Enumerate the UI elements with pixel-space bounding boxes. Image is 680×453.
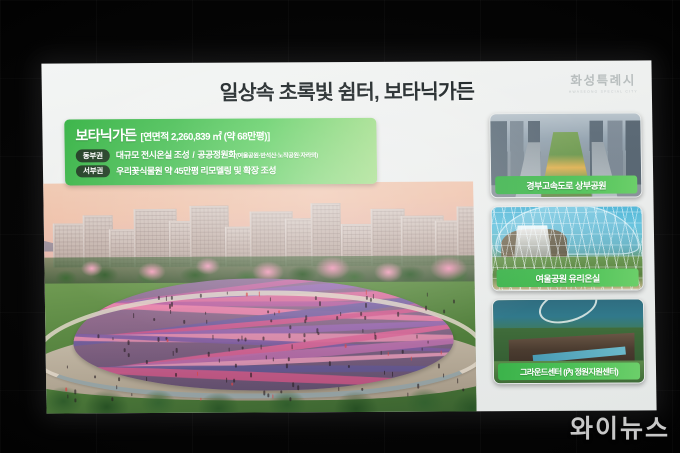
visitor-figure bbox=[348, 365, 350, 368]
visitor-figure bbox=[289, 334, 291, 339]
visitor-figure bbox=[397, 312, 399, 317]
city-logo: 화성특례시 HWASEONG SPECIAL CITY bbox=[568, 69, 637, 93]
visitor-figure bbox=[241, 336, 243, 341]
visitor-figure bbox=[212, 335, 214, 339]
east-separator: / bbox=[189, 150, 197, 160]
visitor-figure bbox=[171, 296, 173, 300]
visitor-figure bbox=[289, 397, 291, 401]
visitor-figure bbox=[297, 386, 299, 391]
visitor-figure bbox=[336, 316, 338, 321]
visitor-figure bbox=[387, 351, 389, 355]
visitor-figure bbox=[245, 337, 247, 341]
visitor-figure bbox=[74, 390, 76, 395]
visitor-figure bbox=[366, 290, 368, 294]
visitor-figure bbox=[228, 348, 230, 352]
info-panel-area: [연면적 2,260,839 ㎡ (약 68만평)] bbox=[140, 128, 270, 143]
visitor-figure bbox=[274, 313, 276, 316]
visitor-figure bbox=[271, 319, 273, 322]
visitor-figure bbox=[370, 298, 372, 302]
visitor-figure bbox=[304, 333, 306, 337]
visitor-figure bbox=[375, 334, 377, 339]
visitor-figure bbox=[384, 371, 386, 375]
visitor-figure bbox=[365, 316, 367, 321]
visitor-figure bbox=[407, 393, 409, 397]
visitor-figure bbox=[218, 359, 220, 363]
visitor-figure bbox=[124, 349, 126, 353]
visitor-figure bbox=[133, 313, 135, 318]
main-rendering-image bbox=[43, 181, 476, 413]
visitor-figure bbox=[417, 384, 419, 389]
page-title: 일상속 초록빛 쉼터, 보타닉가든 bbox=[42, 73, 652, 106]
visitor-figure bbox=[318, 332, 320, 335]
visitor-figure bbox=[175, 373, 177, 376]
visitor-figure bbox=[440, 351, 442, 355]
slide-header: 일상속 초록빛 쉼터, 보타닉가든 화성특례시 HWASEONG SPECIAL… bbox=[41, 60, 652, 117]
projection-room: 일상속 초록빛 쉼터, 보타닉가든 화성특례시 HWASEONG SPECIAL… bbox=[0, 0, 680, 453]
visitor-figure bbox=[66, 387, 68, 391]
visitor-figure bbox=[128, 353, 130, 357]
info-row-west: 서부권 우리꽃식물원 약 45만평 리모델링 및 확장 조성 bbox=[76, 164, 365, 178]
visitor-figure bbox=[427, 292, 429, 296]
region-chip-east: 동부권 bbox=[76, 149, 110, 162]
visitor-figure bbox=[128, 340, 130, 345]
east-text-detail: (여울공원·반석산·노작공원·자라뫼) bbox=[236, 152, 318, 159]
news-watermark: 와이뉴스 bbox=[570, 409, 670, 445]
info-panel-heading: 보타닉가든 [연면적 2,260,839 ㎡ (약 68만평)] bbox=[75, 124, 364, 146]
info-panel-title: 보타닉가든 bbox=[75, 125, 136, 145]
visitor-figure bbox=[272, 395, 274, 399]
visitor-figure bbox=[111, 397, 113, 401]
visitor-figure bbox=[366, 296, 368, 300]
visitor-figure bbox=[361, 388, 363, 391]
visitor-figure bbox=[116, 385, 118, 389]
visitor-figure bbox=[288, 357, 290, 361]
thumbnail-caption-ground-center: 그라운드센터 (內 정원지원센터) bbox=[498, 362, 640, 380]
visitor-figure bbox=[231, 383, 233, 386]
visitor-figure bbox=[421, 348, 423, 351]
visitor-figure bbox=[165, 296, 167, 301]
info-row-east-text: 대규모 전시온실 조성/공공정원화(여울공원·반석산·노작공원·자라뫼) bbox=[116, 149, 318, 160]
visitor-figure bbox=[438, 364, 440, 368]
visitor-figure bbox=[410, 356, 412, 360]
visitor-figure bbox=[365, 303, 367, 308]
visitor-figure bbox=[272, 357, 274, 361]
visitor-figure bbox=[158, 337, 160, 342]
visitor-figure bbox=[463, 388, 465, 391]
visitor-figure bbox=[176, 348, 178, 353]
thumbnail-glass-greenhouse: 여울공원 유리온실 bbox=[491, 205, 644, 291]
visitor-figure bbox=[286, 364, 288, 368]
visitor-figure bbox=[281, 390, 283, 394]
visitor-figure bbox=[226, 378, 228, 383]
visitor-figure bbox=[269, 297, 271, 301]
botanic-garden-info-panel: 보타닉가든 [연면적 2,260,839 ㎡ (약 68만평)] 동부권 대규모… bbox=[64, 118, 377, 186]
thumbnail-highway-deck-park: 경부고속도로 상부공원 bbox=[489, 112, 642, 198]
visitor-figure bbox=[250, 372, 252, 377]
visitor-figure bbox=[112, 337, 114, 341]
visitor-figure bbox=[329, 362, 331, 366]
visitor-figure bbox=[259, 292, 261, 297]
visitor-figure bbox=[373, 294, 375, 298]
visitor-figure bbox=[425, 305, 427, 310]
visitor-figure bbox=[290, 325, 292, 329]
visitor-figure bbox=[131, 393, 133, 396]
visitor-figure bbox=[197, 372, 199, 376]
east-text-main: 대규모 전시온실 조성 bbox=[116, 150, 190, 160]
visitor-figure bbox=[200, 294, 202, 298]
visitor-figure bbox=[226, 292, 228, 295]
visitor-figure bbox=[67, 365, 69, 368]
reference-thumbnail-rail: 경부고속도로 상부공원 여울공원 유리온실 bbox=[489, 112, 645, 384]
visitor-figure bbox=[208, 352, 210, 357]
visitor-figure bbox=[158, 296, 160, 300]
visitor-figure bbox=[67, 395, 69, 399]
visitor-figure bbox=[170, 310, 172, 314]
visitor-figure bbox=[205, 311, 207, 315]
visitor-figure bbox=[380, 351, 382, 355]
visitor-figure bbox=[172, 351, 174, 356]
visitor-figure bbox=[278, 310, 280, 313]
info-row-west-text: 우리꽃식물원 약 45만평 리모델링 및 확장 조성 bbox=[116, 165, 276, 176]
thumbnail-caption-greenhouse: 여울공원 유리온실 bbox=[496, 268, 638, 287]
visitor-figure bbox=[94, 375, 96, 379]
visitor-figure bbox=[361, 312, 363, 316]
visitor-figure bbox=[75, 398, 77, 403]
visitor-figure bbox=[146, 360, 148, 364]
visitor-figure bbox=[263, 337, 265, 341]
visitor-figure bbox=[234, 379, 236, 383]
visitor-figure bbox=[392, 372, 394, 377]
visitor-figure bbox=[268, 394, 270, 398]
visitor-figure bbox=[146, 377, 148, 381]
visitor-figure bbox=[183, 320, 185, 324]
visitor-figure bbox=[235, 364, 237, 368]
visitor-figure bbox=[345, 344, 347, 348]
visitor-figure bbox=[340, 312, 342, 317]
visitor-figure bbox=[118, 377, 120, 381]
visitor-figure bbox=[171, 302, 173, 307]
visitor-figure bbox=[166, 339, 168, 343]
visitor-figure bbox=[402, 350, 404, 354]
visitor-figure bbox=[266, 355, 268, 359]
visitor-figure bbox=[292, 383, 294, 388]
west-text-main: 우리꽃식물원 약 45만평 리모델링 및 확장 조성 bbox=[116, 165, 276, 176]
visitor-figure bbox=[153, 318, 155, 321]
thumbnail-ground-center: 그라운드센터 (內 정원지원센터) bbox=[492, 298, 645, 384]
visitor-figure bbox=[338, 387, 340, 391]
visitor-figure bbox=[457, 378, 459, 383]
visitor-figure bbox=[98, 334, 100, 338]
info-row-east: 동부권 대규모 전시온실 조성/공공정원화(여울공원·반석산·노작공원·자라뫼) bbox=[76, 148, 365, 162]
visitor-figure bbox=[267, 311, 269, 314]
visitor-figure bbox=[427, 340, 429, 344]
city-logo-korean: 화성특례시 bbox=[568, 69, 637, 88]
presentation-slide: 일상속 초록빛 쉼터, 보타닉가든 화성특례시 HWASEONG SPECIAL… bbox=[41, 60, 656, 413]
visitor-figure bbox=[260, 345, 262, 350]
visitor-figure bbox=[242, 346, 244, 349]
visitor-figure bbox=[315, 296, 317, 300]
visitor-figure bbox=[264, 391, 266, 396]
visitor-figures bbox=[43, 181, 476, 413]
visitor-figure bbox=[443, 374, 445, 378]
visitor-figure bbox=[453, 299, 455, 303]
visitor-figure bbox=[304, 339, 306, 342]
city-logo-english: HWASEONG SPECIAL CITY bbox=[569, 89, 638, 93]
visitor-figure bbox=[246, 293, 248, 297]
visitor-figure bbox=[200, 397, 202, 400]
visitor-figure bbox=[206, 320, 208, 324]
visitor-figure bbox=[444, 309, 446, 313]
visitor-figure bbox=[305, 320, 307, 324]
visitor-figure bbox=[319, 301, 321, 306]
region-chip-west: 서부권 bbox=[76, 165, 110, 178]
visitor-figure bbox=[238, 339, 240, 342]
east-text-second: 공공정원화 bbox=[197, 150, 236, 160]
visitor-figure bbox=[291, 344, 293, 349]
visitor-figure bbox=[362, 329, 364, 333]
thumbnail-caption-highway: 경부고속도로 상부공원 bbox=[495, 175, 637, 194]
visitor-figure bbox=[416, 335, 418, 339]
projected-slide-surface: 일상속 초록빛 쉼터, 보타닉가든 화성특례시 HWASEONG SPECIAL… bbox=[41, 60, 656, 413]
